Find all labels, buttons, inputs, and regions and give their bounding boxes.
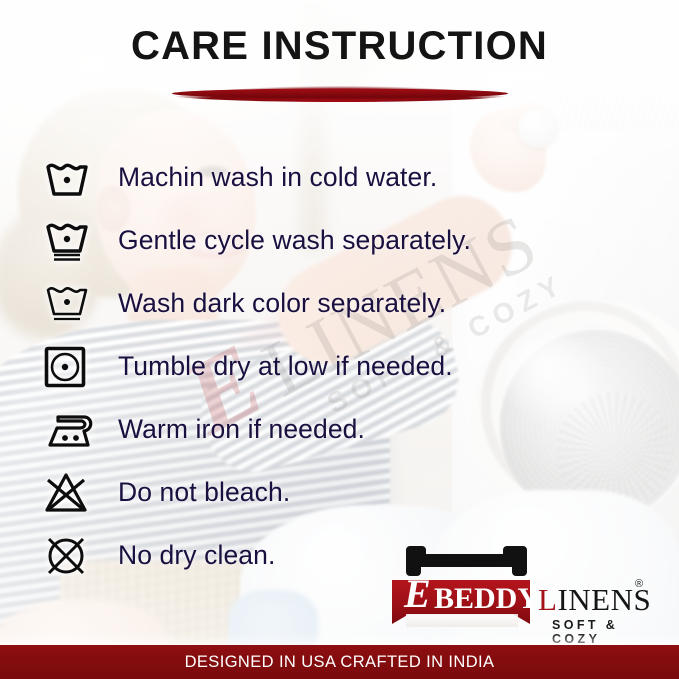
page-title: CARE INSTRUCTION bbox=[0, 24, 679, 69]
footer-fade bbox=[0, 633, 679, 645]
wash-separately-icon bbox=[44, 283, 118, 325]
footer-text: DESIGNED IN USA CRAFTED IN INDIA bbox=[185, 653, 495, 672]
care-instruction-list: Machin wash in cold water. Gentle cycle … bbox=[44, 146, 564, 587]
tumble-dry-low-icon bbox=[44, 346, 118, 388]
list-item-label: Wash dark color separately. bbox=[118, 288, 446, 319]
footer-bar: DESIGNED IN USA CRAFTED IN INDIA bbox=[0, 645, 679, 679]
registered-trademark-icon: ® bbox=[635, 578, 643, 590]
list-item-label: Do not bleach. bbox=[118, 477, 290, 508]
list-item-label: Machin wash in cold water. bbox=[118, 162, 437, 193]
warm-iron-icon bbox=[44, 411, 118, 449]
care-instruction-card: E LINENS SOFT & COZY CARE INSTRUCTION Ma… bbox=[0, 0, 679, 679]
list-item-label: Warm iron if needed. bbox=[118, 414, 365, 445]
logo-linens-initial: L bbox=[538, 582, 557, 617]
list-item: Machin wash in cold water. bbox=[44, 146, 564, 209]
gentle-cycle-wash-icon bbox=[44, 220, 118, 262]
list-item: Warm iron if needed. bbox=[44, 398, 564, 461]
list-item-label: Tumble dry at low if needed. bbox=[118, 351, 453, 382]
logo-monogram: E bbox=[404, 574, 431, 614]
list-item: Tumble dry at low if needed. bbox=[44, 335, 564, 398]
brand-logo[interactable]: E BEDDY LINENS ® SOFT & COZY bbox=[392, 544, 654, 636]
list-item-label: No dry clean. bbox=[118, 540, 275, 571]
machine-wash-icon bbox=[44, 158, 118, 198]
no-dry-clean-icon bbox=[44, 534, 118, 578]
list-item: Gentle cycle wash separately. bbox=[44, 209, 564, 272]
do-not-bleach-icon bbox=[44, 472, 118, 514]
list-item: Do not bleach. bbox=[44, 461, 564, 524]
list-item-label: Gentle cycle wash separately. bbox=[118, 225, 471, 256]
logo-beddy-text: BEDDY bbox=[434, 584, 539, 614]
title-divider-core bbox=[172, 89, 508, 99]
list-item: Wash dark color separately. bbox=[44, 272, 564, 335]
